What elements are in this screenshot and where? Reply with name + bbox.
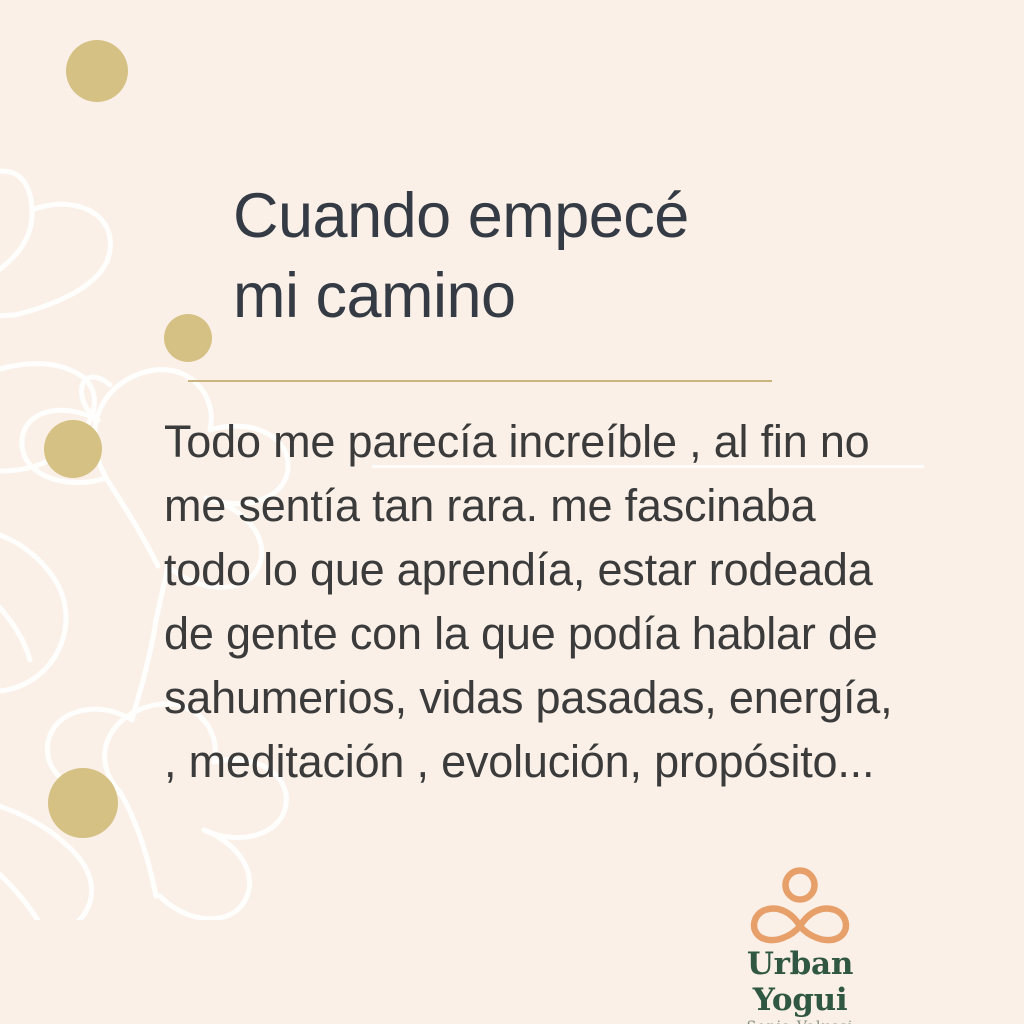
gold-divider-rule: [188, 380, 772, 382]
brand-logo: Urban Yogui Sonia Valussi: [700, 866, 900, 1024]
social-post-card: Cuando empecé mi camino Todo me parecía …: [0, 0, 1024, 1024]
meditating-figure-infinity-icon: [738, 866, 862, 944]
gold-dot-top-left: [66, 40, 128, 102]
gold-dot-bottom-left: [48, 768, 118, 838]
body-text: Todo me parecía increíble , al fin no me…: [164, 410, 954, 794]
brand-name: Urban Yogui: [700, 946, 900, 1018]
gold-dot-title: [164, 314, 212, 362]
gold-dot-middle-left: [44, 420, 102, 478]
headline-text: Cuando empecé mi camino: [233, 176, 933, 336]
brand-subtitle: Sonia Valussi: [700, 1019, 900, 1024]
